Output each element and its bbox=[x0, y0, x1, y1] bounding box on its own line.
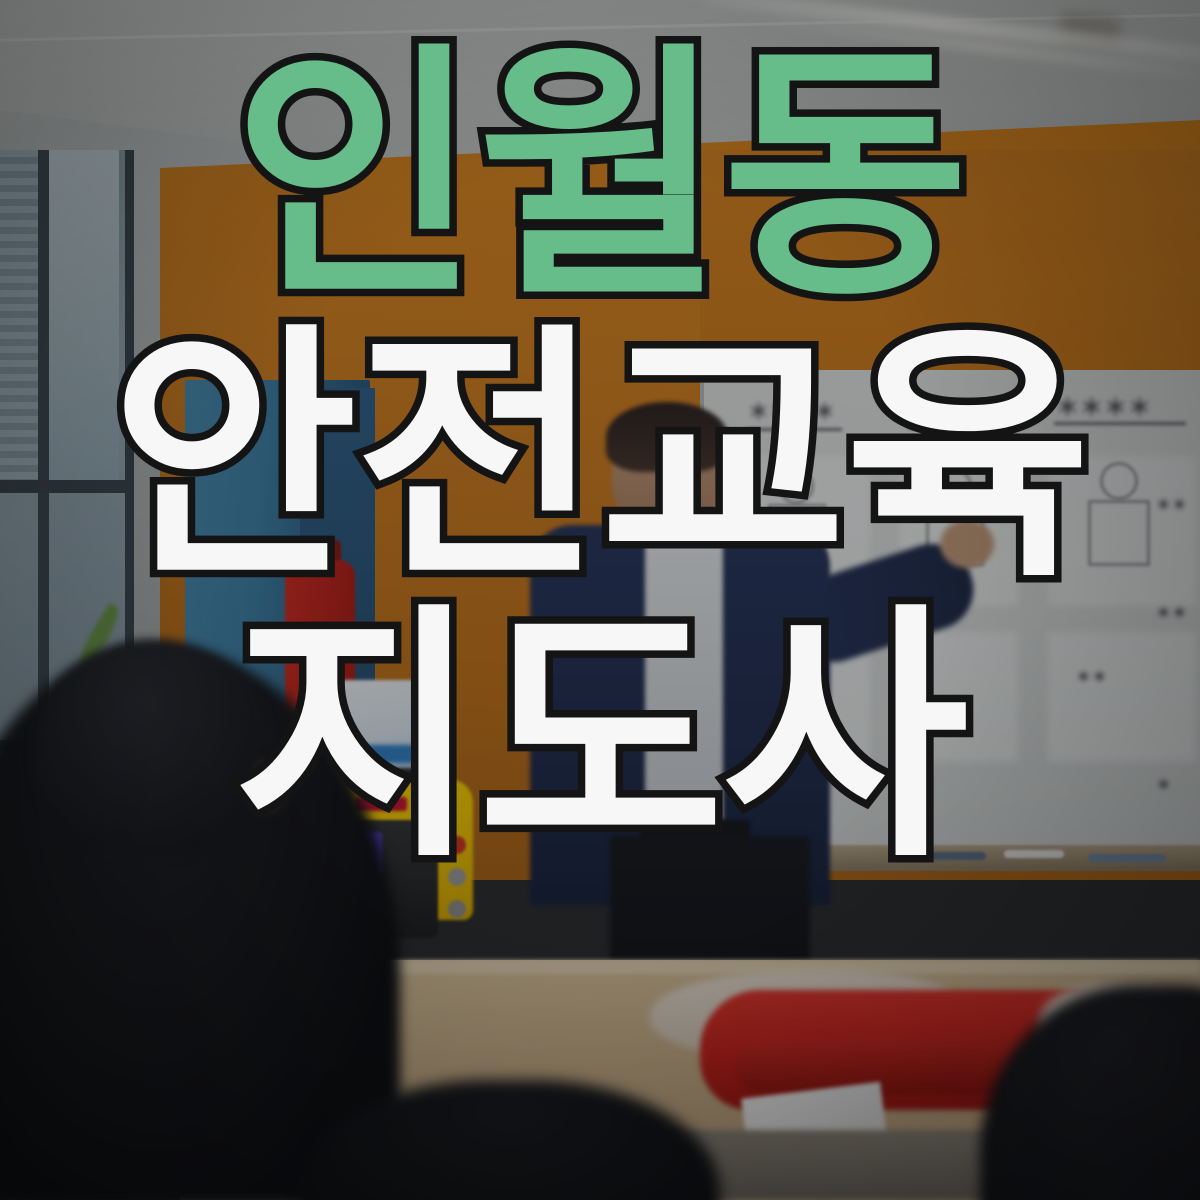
thumbnail-canvas: ＊＊＊＊ ＊＊＊ ＊＊＊＊ ＊＊ ＊＊ ＊＊ ＊＊ ＊＊ ＊ bbox=[0, 0, 1200, 1200]
title-line-1: 인월동 bbox=[233, 46, 967, 309]
title-line-2: 안전교육 bbox=[111, 327, 1089, 590]
title-overlay: 인월동 안전교육 지도사 bbox=[0, 0, 1200, 1200]
title-line-3: 지도사 bbox=[233, 607, 967, 870]
